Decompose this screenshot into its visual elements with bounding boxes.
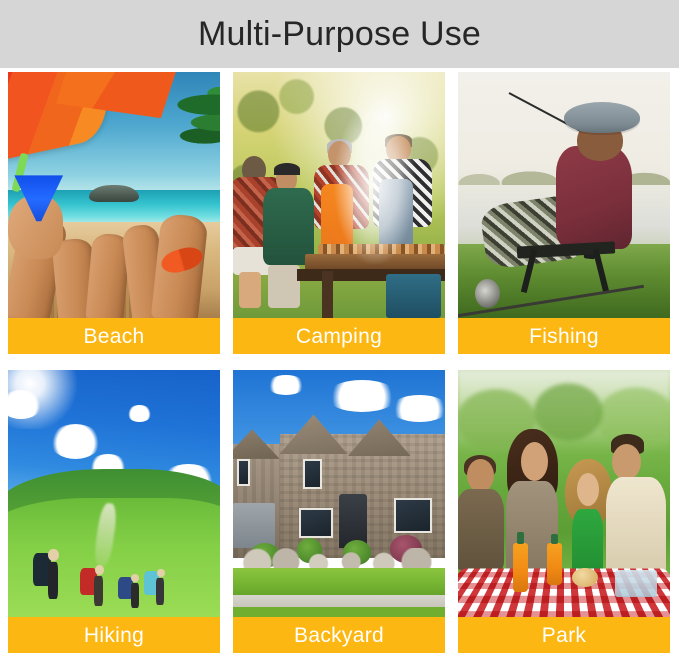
tile-label-text: Backyard bbox=[294, 625, 384, 646]
camper-person bbox=[263, 165, 314, 308]
fishing-scene bbox=[458, 72, 670, 318]
tile-fishing[interactable]: Fishing bbox=[458, 72, 670, 354]
food-container bbox=[615, 570, 657, 597]
fishing-photo bbox=[458, 72, 670, 318]
hiking-scene bbox=[8, 370, 220, 617]
tile-label-backyard: Backyard bbox=[233, 617, 445, 653]
beach-scene bbox=[8, 72, 220, 318]
page-title: Multi-Purpose Use bbox=[198, 17, 481, 51]
tile-label-text: Fishing bbox=[529, 326, 599, 347]
hiker bbox=[144, 568, 172, 615]
tile-label-text: Hiking bbox=[84, 625, 144, 646]
juice-bottle bbox=[513, 543, 528, 592]
grass-strip bbox=[233, 607, 445, 617]
tile-label-text: Camping bbox=[296, 326, 382, 347]
sun-flare bbox=[8, 370, 93, 429]
tile-beach[interactable]: Beach bbox=[8, 72, 220, 354]
house-window bbox=[237, 459, 250, 486]
house-window bbox=[299, 508, 333, 538]
park-photo bbox=[458, 370, 670, 617]
tile-hiking[interactable]: Hiking bbox=[8, 370, 220, 653]
tile-backyard[interactable]: Backyard bbox=[233, 370, 445, 653]
tile-label-text: Beach bbox=[83, 326, 144, 347]
tile-label-park: Park bbox=[458, 617, 670, 653]
tile-label-camping: Camping bbox=[233, 318, 445, 354]
backyard-scene bbox=[233, 370, 445, 617]
beach-photo bbox=[8, 72, 220, 318]
hiker bbox=[33, 548, 67, 612]
cloud bbox=[127, 405, 152, 422]
beach-island bbox=[89, 185, 140, 202]
backyard-photo bbox=[233, 370, 445, 617]
camping-scene bbox=[233, 72, 445, 318]
house-window bbox=[394, 498, 432, 533]
house-window bbox=[303, 459, 322, 489]
tile-label-hiking: Hiking bbox=[8, 617, 220, 653]
cloud bbox=[50, 424, 101, 459]
bucket-hat bbox=[564, 102, 640, 134]
juice-bottle bbox=[547, 543, 562, 585]
hiking-photo bbox=[8, 370, 220, 617]
grill-leg bbox=[322, 271, 333, 318]
cloud bbox=[326, 380, 398, 412]
tile-park[interactable]: Park bbox=[458, 370, 670, 653]
picnic-food bbox=[572, 568, 597, 588]
fisher-torso bbox=[556, 146, 632, 249]
cloud bbox=[267, 375, 305, 395]
bbq-smoke bbox=[322, 72, 432, 264]
hiker bbox=[80, 563, 112, 617]
hiker bbox=[118, 573, 146, 617]
feature-grid: Beach bbox=[0, 68, 679, 655]
page-header: Multi-Purpose Use bbox=[0, 0, 679, 68]
park-scene bbox=[458, 370, 670, 617]
cooler-box bbox=[386, 274, 441, 318]
cloud bbox=[390, 395, 445, 422]
garage-door bbox=[233, 503, 275, 547]
tile-camping[interactable]: Camping bbox=[233, 72, 445, 354]
tile-label-beach: Beach bbox=[8, 318, 220, 354]
camping-photo bbox=[233, 72, 445, 318]
tile-label-text: Park bbox=[542, 625, 586, 646]
tile-label-fishing: Fishing bbox=[458, 318, 670, 354]
